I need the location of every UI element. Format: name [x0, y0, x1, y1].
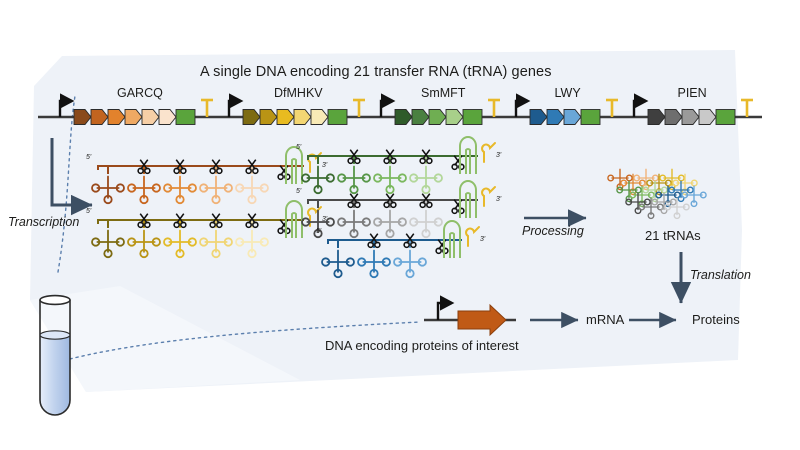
poi-gene-arrow	[458, 305, 506, 335]
protein-pathway-group	[0, 0, 800, 450]
poi-dna-label: DNA encoding proteins of interest	[325, 338, 519, 353]
bent-arrow-promoter-icon	[438, 303, 452, 320]
proteins-label: Proteins	[692, 312, 740, 327]
mrna-label: mRNA	[586, 312, 624, 327]
figure-root: A single DNA encoding 21 transfer RNA (t…	[0, 0, 800, 450]
